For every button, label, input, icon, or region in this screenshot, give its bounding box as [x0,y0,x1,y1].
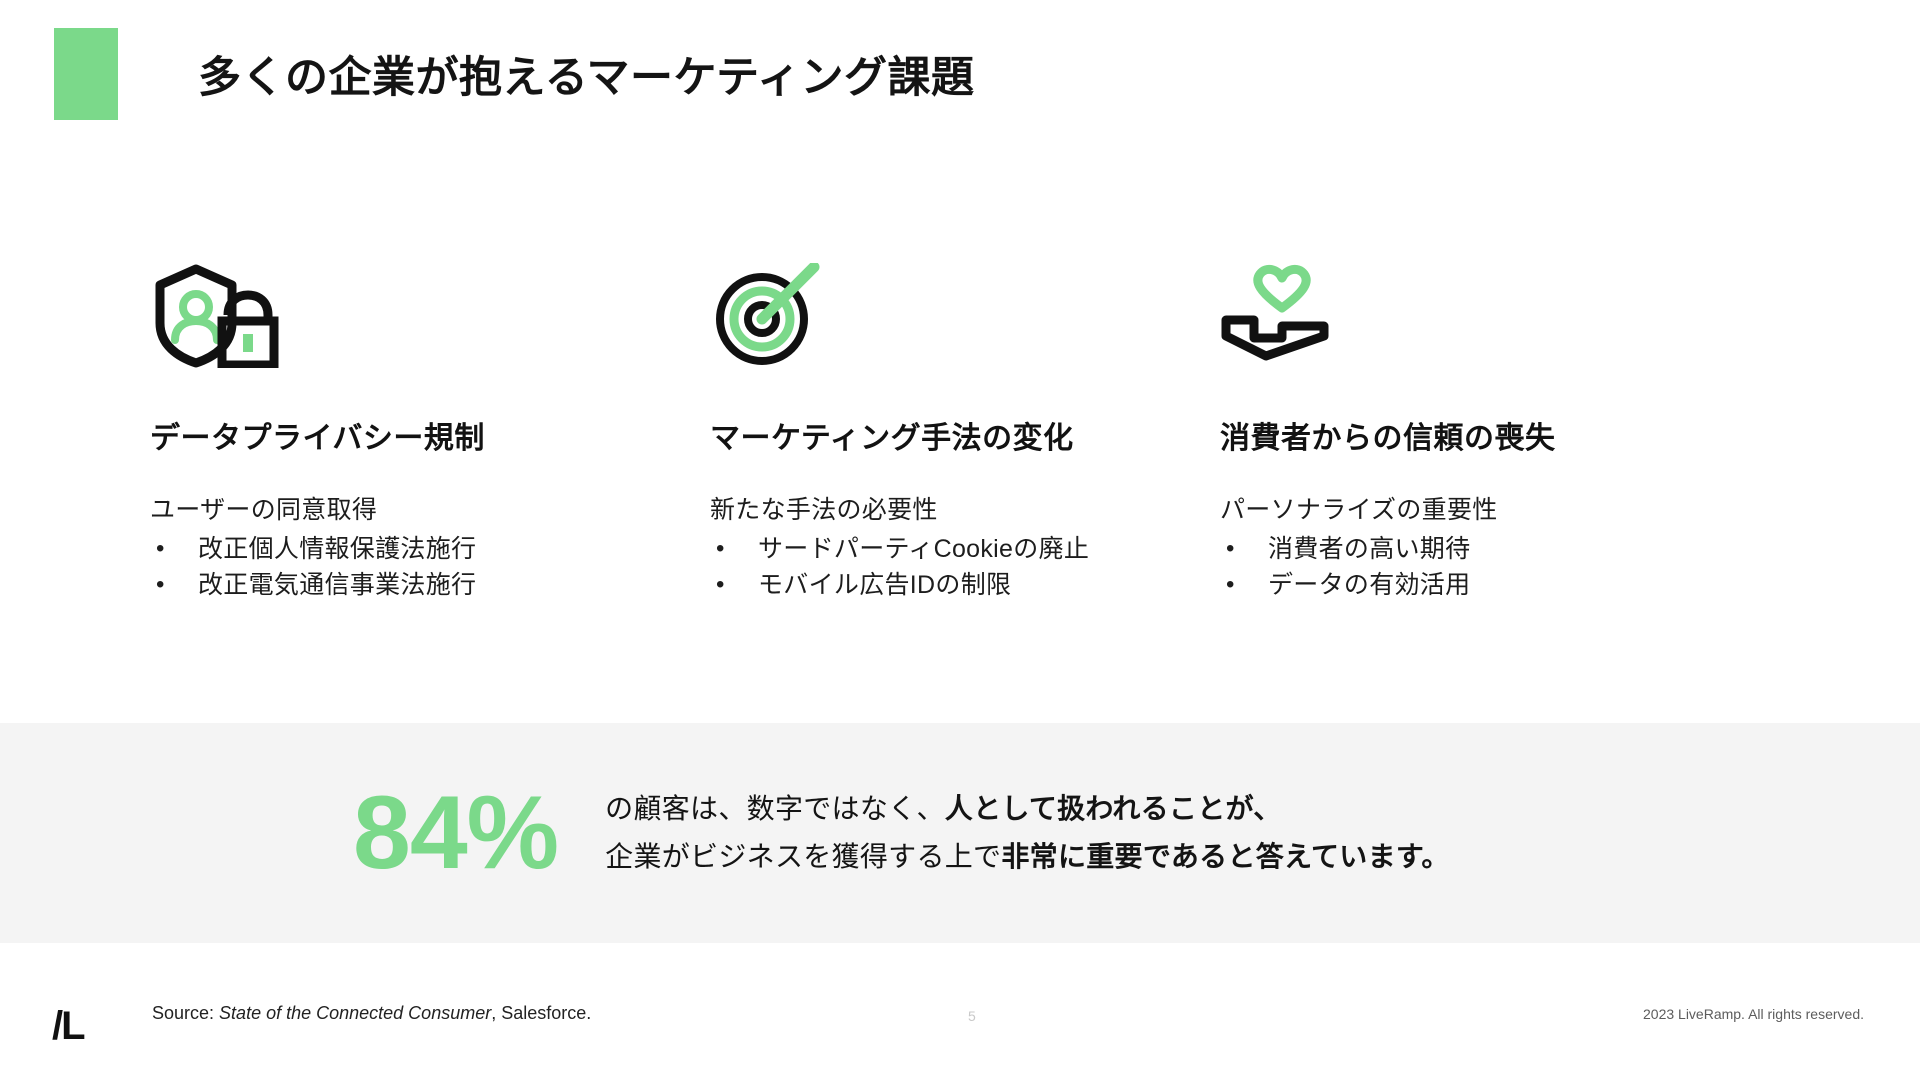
page-title: 多くの企業が抱えるマーケティング課題 [198,43,975,105]
source-citation: Source: State of the Connected Consumer,… [152,1003,591,1024]
target-arrow-icon [710,258,1120,368]
column-bullets: 改正個人情報保護法施行 改正電気通信事業法施行 [150,532,560,603]
column-bullets: 消費者の高い期待 データの有効活用 [1220,532,1680,603]
title-accent-bar [54,28,118,120]
column-lead: パーソナライズの重要性 [1220,490,1680,526]
source-suffix: , Salesforce. [491,1003,591,1023]
list-item: サードパーティCookieの廃止 [710,532,1120,568]
statistic-line-1-normal: の顧客は、数字ではなく、 [605,793,945,824]
statistic-value: 84% [353,781,558,885]
shield-lock-icon [150,258,560,368]
copyright-notice: 2023 LiveRamp. All rights reserved. [1643,1006,1864,1022]
source-title: State of the Connected Consumer [219,1003,491,1023]
list-item: モバイル広告IDの制限 [710,568,1120,604]
statistic-line-2-normal: 企業がビジネスを獲得する上で [605,841,1001,872]
slide-footer: /L Source: State of the Connected Consum… [0,988,1920,1080]
statistic-line-2-bold: 非常に重要であると答えています。 [1001,841,1449,872]
column-marketing-change: マーケティング手法の変化 新たな手法の必要性 サードパーティCookieの廃止 … [560,258,1120,603]
statistic-band: 84% の顧客は、数字ではなく、人として扱われることが、 企業がビジネスを獲得す… [0,723,1920,943]
statistic-line-2: 企業がビジネスを獲得する上で非常に重要であると答えています。 [605,833,1450,881]
page-number: 5 [968,1008,976,1024]
column-heading: マーケティング手法の変化 [710,413,1120,457]
column-data-privacy: データプライバシー規制 ユーザーの同意取得 改正個人情報保護法施行 改正電気通信… [0,258,560,603]
column-trust-loss: 消費者からの信頼の喪失 パーソナライズの重要性 消費者の高い期待 データの有効活… [1120,258,1680,603]
statistic-text: の顧客は、数字ではなく、人として扱われることが、 企業がビジネスを獲得する上で非… [605,785,1450,881]
column-bullets: サードパーティCookieの廃止 モバイル広告IDの制限 [710,532,1120,603]
statistic-line-1: の顧客は、数字ではなく、人として扱われることが、 [605,785,1450,833]
list-item: 消費者の高い期待 [1220,532,1680,568]
list-item: 改正電気通信事業法施行 [150,568,560,604]
column-heading: 消費者からの信頼の喪失 [1220,413,1680,457]
statistic-line-1-bold: 人として扱われることが、 [945,793,1282,824]
column-lead: 新たな手法の必要性 [710,490,1120,526]
source-prefix: Source: [152,1003,219,1023]
list-item: データの有効活用 [1220,568,1680,604]
feature-columns: データプライバシー規制 ユーザーの同意取得 改正個人情報保護法施行 改正電気通信… [0,258,1920,603]
column-lead: ユーザーの同意取得 [150,490,560,526]
list-item: 改正個人情報保護法施行 [150,532,560,568]
liveramp-logo: /L [52,1004,84,1049]
hand-heart-icon [1220,258,1680,368]
title-row: 多くの企業が抱えるマーケティング課題 [0,28,1920,120]
slide-root: 多くの企業が抱えるマーケティング課題 データプライバシー規制 ユーザーの同意取得… [0,0,1920,1080]
column-heading: データプライバシー規制 [150,413,560,457]
